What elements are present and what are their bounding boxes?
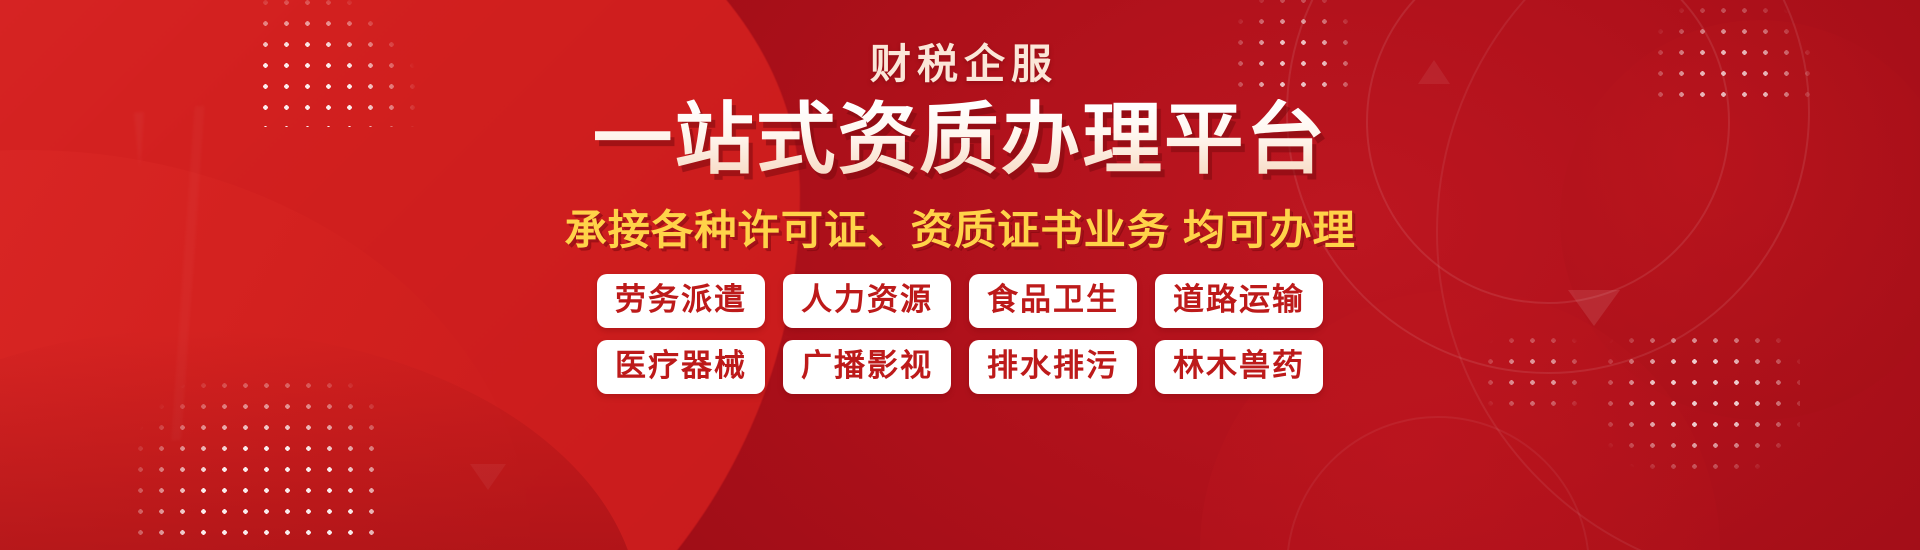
service-tag-row: 医疗器械 广播影视 排水排污 林木兽药 [597,340,1323,394]
service-tag[interactable]: 排水排污 [969,340,1137,394]
service-tag[interactable]: 林木兽药 [1155,340,1323,394]
banner-subheadline: 承接各种许可证、资质证书业务 均可办理 [564,196,1355,256]
promo-banner: 财税企服 一站式资质办理平台 承接各种许可证、资质证书业务 均可办理 劳务派遣 … [0,0,1920,550]
banner-content: 财税企服 一站式资质办理平台 承接各种许可证、资质证书业务 均可办理 劳务派遣 … [0,0,1920,550]
service-tag[interactable]: 广播影视 [783,340,951,394]
banner-headline: 一站式资质办理平台 [593,99,1327,180]
service-tag[interactable]: 医疗器械 [597,340,765,394]
service-tag[interactable]: 人力资源 [783,274,951,328]
service-tag[interactable]: 食品卫生 [969,274,1137,328]
service-tag-list: 劳务派遣 人力资源 食品卫生 道路运输 医疗器械 广播影视 排水排污 林木兽药 [597,274,1323,394]
service-tag[interactable]: 道路运输 [1155,274,1323,328]
service-tag[interactable]: 劳务派遣 [597,274,765,328]
banner-eyebrow-text: 财税企服 [870,44,1058,85]
service-tag-row: 劳务派遣 人力资源 食品卫生 道路运输 [597,274,1323,328]
